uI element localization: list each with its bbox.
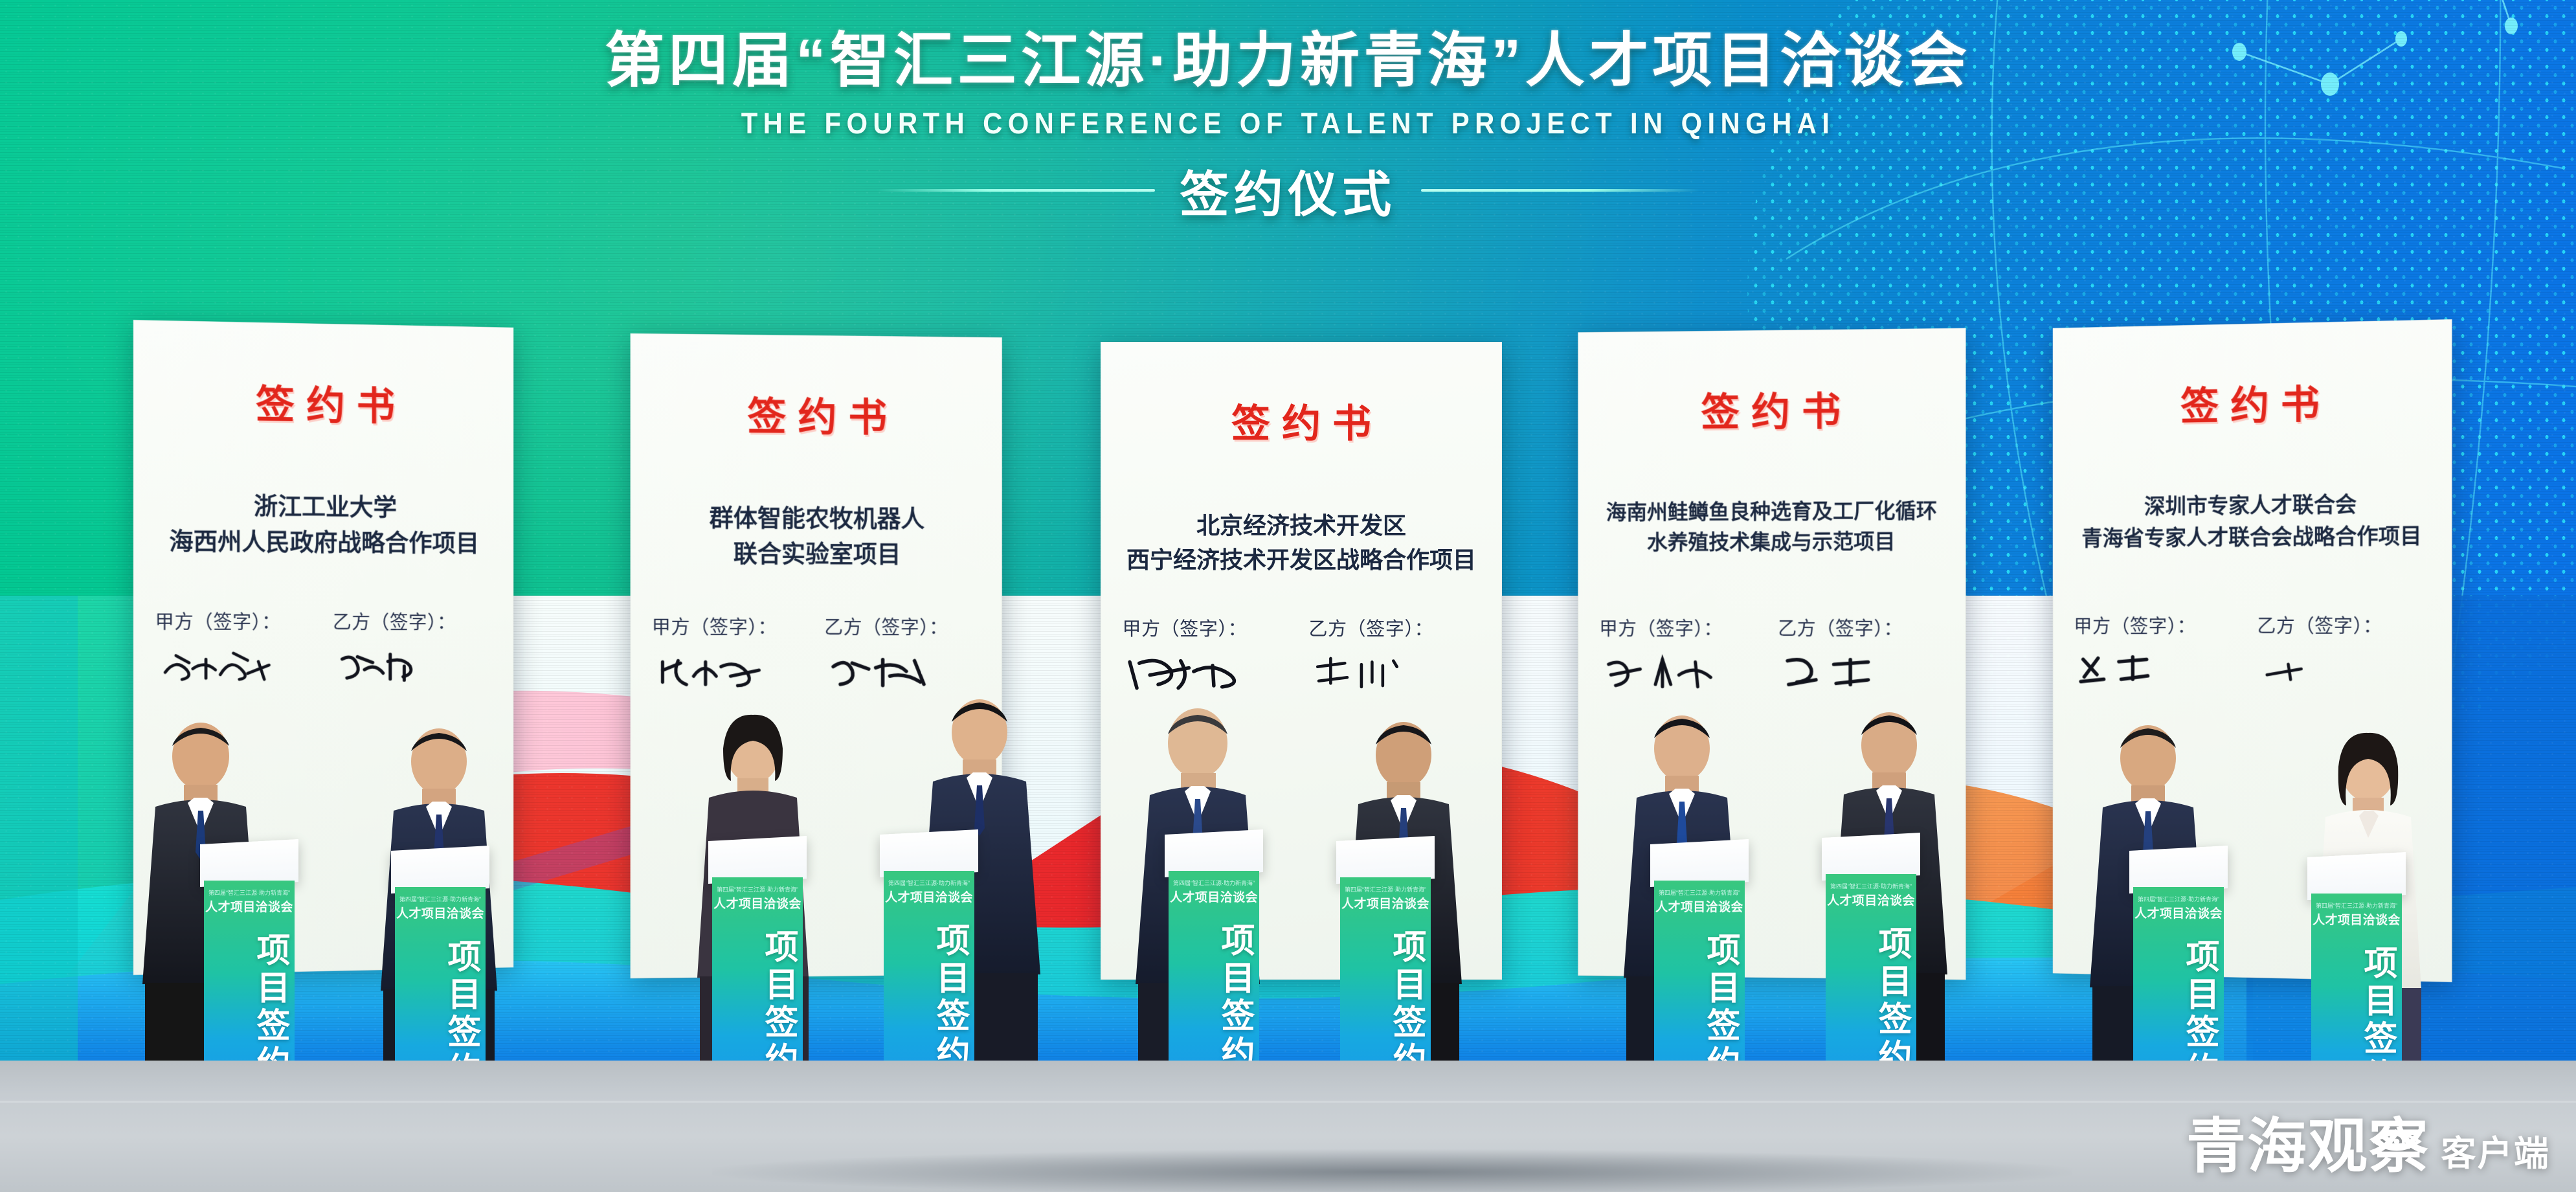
podium-5: 第四届“智汇三江源·助力新青海” 人才项目洽谈会 项目签约: [1162, 832, 1266, 1091]
podium-banner-top-10: 第四届“智汇三江源·助力新青海”: [2311, 901, 2402, 910]
podium-banner-top-1: 第四届“智汇三江源·助力新青海”: [204, 888, 295, 897]
stage-floor-edge: [0, 1101, 2576, 1103]
podium-banner-top-7: 第四届“智汇三江源·助力新青海”: [1654, 888, 1745, 897]
podium-vertical-text-5: 项目签约: [1169, 923, 1259, 1074]
podium-6: 第四届“智汇三江源·助力新青海” 人才项目洽谈会 项目签约: [1334, 838, 1437, 1097]
podium-vertical-text-4: 项目签约: [884, 923, 974, 1074]
podium-banner-top-9: 第四届“智汇三江源·助力新青海”: [2133, 895, 2224, 903]
podium-vertical-text-8: 项目签约: [1826, 926, 1916, 1077]
screenshot-root: 第四届“智汇三江源·助力新青海”人才项目洽谈会 THE FOURTH CONFE…: [0, 0, 2576, 1192]
podium-banner-1: 人才项目洽谈会: [204, 897, 295, 915]
watermark-app-label: 客户端: [2441, 1136, 2550, 1176]
podium-4: 第四届“智汇三江源·助力新青海” 人才项目洽谈会 项目签约: [877, 832, 981, 1091]
podium-banner-8: 人才项目洽谈会: [1826, 891, 1916, 908]
podium-banner-top-3: 第四届“智汇三江源·助力新青海”: [712, 885, 803, 894]
podium-banner-top-2: 第四届“智汇三江源·助力新青海”: [395, 895, 486, 903]
podium-banner-6: 人才项目洽谈会: [1340, 894, 1431, 912]
podium-banner-top-4: 第四届“智汇三江源·助力新青海”: [884, 879, 974, 887]
watermark: 青海观察 客户端: [2186, 1117, 2550, 1176]
podium-banner-10: 人才项目洽谈会: [2311, 910, 2402, 928]
podium-banner-4: 人才项目洽谈会: [884, 888, 974, 905]
podium-banner-top-8: 第四届“智汇三江源·助力新青海”: [1826, 882, 1916, 890]
podium-banner-5: 人才项目洽谈会: [1169, 888, 1259, 905]
podium-vertical-text-3: 项目签约: [712, 929, 803, 1080]
podium-banner-7: 人才项目洽谈会: [1654, 897, 1745, 915]
podium-8: 第四届“智汇三江源·助力新青海” 人才项目洽谈会 项目签约: [1819, 835, 1923, 1094]
podium-banner-top-6: 第四届“智汇三江源·助力新青海”: [1340, 885, 1431, 894]
podium-vertical-text-6: 项目签约: [1340, 929, 1431, 1080]
podium-banner-3: 人才项目洽谈会: [712, 894, 803, 912]
podium-banner-9: 人才项目洽谈会: [2133, 904, 2224, 921]
podium-banner-2: 人才项目洽谈会: [395, 904, 486, 921]
eye-icon: [2371, 1126, 2422, 1157]
stage-floor-shadow: [712, 1149, 2072, 1192]
podium-3: 第四届“智汇三江源·助力新青海” 人才项目洽谈会 项目签约: [706, 838, 809, 1097]
podium-banner-top-5: 第四届“智汇三江源·助力新青海”: [1169, 879, 1259, 887]
